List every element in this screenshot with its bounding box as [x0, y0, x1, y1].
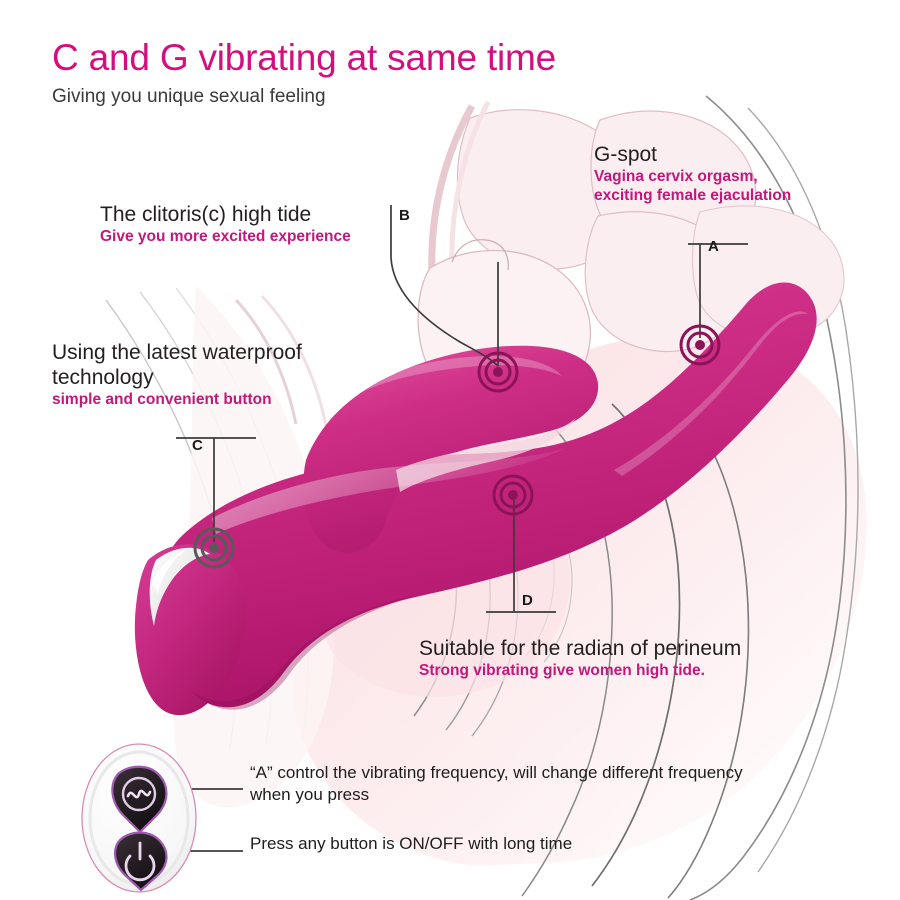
target-marker-d [494, 476, 532, 514]
callout-waterproof-subtitle: simple and convenient button [52, 390, 362, 409]
marker-label-a: A [708, 238, 719, 255]
marker-label-c: C [192, 437, 203, 454]
callout-g-spot: G-spot Vagina cervix orgasm, exciting fe… [594, 142, 894, 205]
remote-control [78, 742, 200, 894]
callout-perineum-title: Suitable for the radian of perineum [419, 636, 889, 661]
callout-g-spot-title: G-spot [594, 142, 894, 167]
callout-clitoris-subtitle: Give you more excited experience [100, 227, 390, 246]
page-subtitle: Giving you unique sexual feeling [52, 84, 556, 110]
callout-clitoris: The clitoris(c) high tide Give you more … [100, 202, 390, 246]
marker-label-b: B [399, 207, 410, 224]
frequency-button-description: “A” control the vibrating frequency, wil… [250, 762, 890, 806]
callout-perineum: Suitable for the radian of perineum Stro… [419, 636, 889, 680]
callout-perineum-subtitle: Strong vibrating give women high tide. [419, 661, 889, 680]
power-button-description: Press any button is ON/OFF with long tim… [250, 833, 890, 855]
callout-clitoris-title: The clitoris(c) high tide [100, 202, 390, 227]
target-marker-b [479, 353, 517, 391]
infographic-canvas: C and G vibrating at same time Giving yo… [0, 0, 900, 900]
marker-label-d: D [522, 592, 533, 609]
callout-waterproof-title: Using the latest waterproof technology [52, 340, 362, 390]
header-block: C and G vibrating at same time Giving yo… [52, 36, 556, 110]
target-marker-c [195, 529, 233, 567]
callout-waterproof: Using the latest waterproof technology s… [52, 340, 362, 409]
page-title: C and G vibrating at same time [52, 36, 556, 80]
callout-g-spot-subtitle: Vagina cervix orgasm, exciting female ej… [594, 167, 894, 205]
target-marker-a [681, 326, 719, 364]
